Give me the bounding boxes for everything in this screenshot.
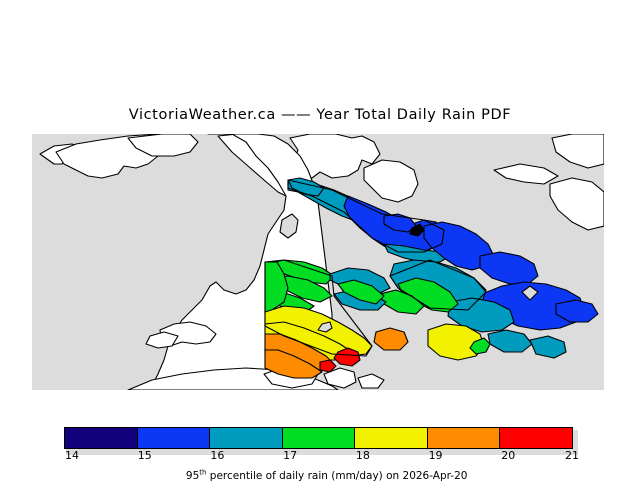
- map-graphic: [32, 134, 604, 390]
- colorbar-segment-18-19: [354, 428, 427, 448]
- figure-title: VictoriaWeather.ca —— Year Total Daily R…: [0, 107, 640, 123]
- colorbar-segments: [64, 427, 573, 449]
- colorbar-segment-19-20: [427, 428, 500, 448]
- map-panel: [32, 134, 604, 390]
- colorbar-segment-16-17: [209, 428, 282, 448]
- caption-prefix: 95: [186, 470, 199, 482]
- colorbar-segment-20-21: [499, 428, 572, 448]
- colorbar-segment-15-16: [137, 428, 210, 448]
- caption-suffix: percentile of daily rain (mm/day) on 202…: [206, 470, 467, 482]
- figure-canvas: VictoriaWeather.ca —— Year Total Daily R…: [0, 0, 640, 480]
- contour-band-19-20-chatham: [374, 328, 408, 350]
- colorbar-caption: 95th percentile of daily rain (mm/day) o…: [0, 458, 640, 494]
- colorbar-segment-17-18: [282, 428, 355, 448]
- colorbar: [64, 427, 573, 449]
- colorbar-segment-14-15: [65, 428, 137, 448]
